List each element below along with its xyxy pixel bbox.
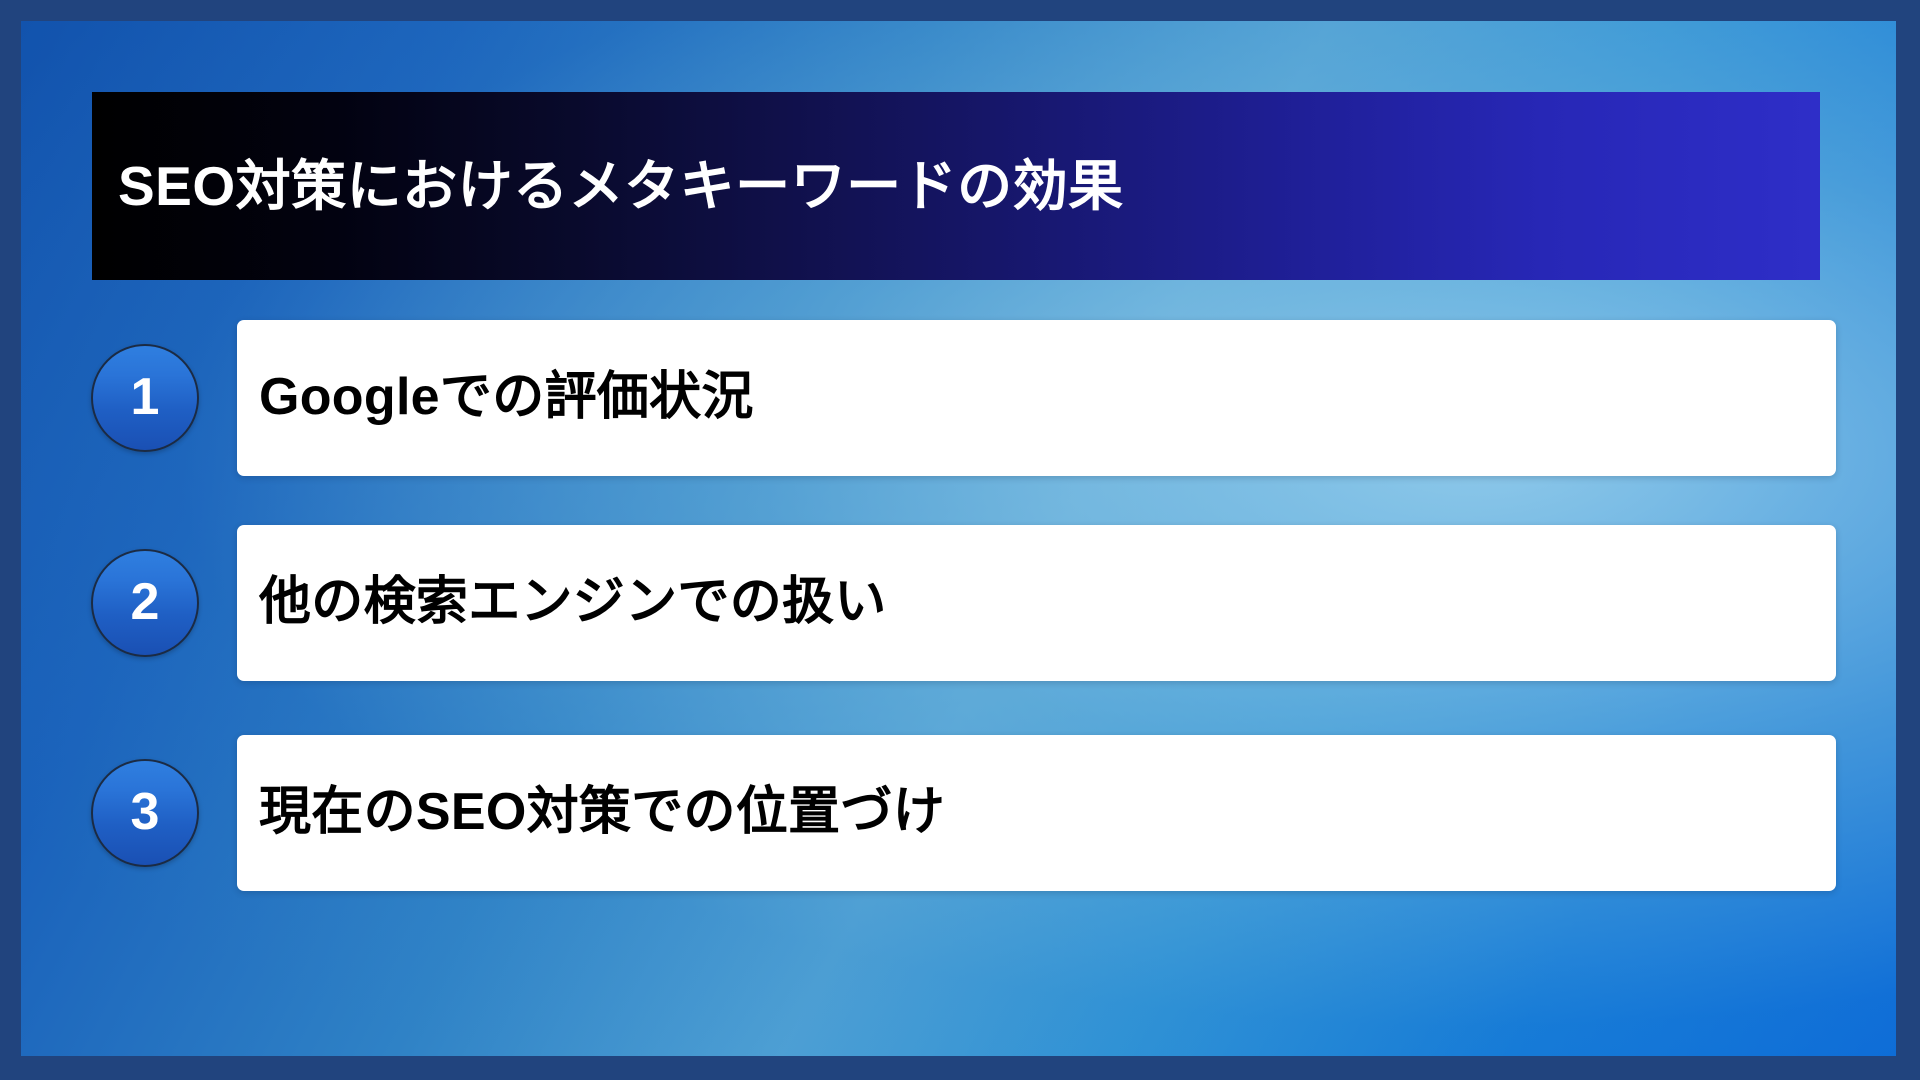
slide-canvas: SEO対策におけるメタキーワードの効果 1 Googleでの評価状況 2 他の検… bbox=[21, 21, 1896, 1056]
agenda-item-2[interactable]: 2 他の検索エンジンでの扱い bbox=[81, 525, 1836, 681]
number-badge-3: 3 bbox=[91, 759, 199, 867]
agenda-card-3-label: 現在のSEO対策での位置づけ bbox=[259, 783, 945, 843]
agenda-card-2[interactable]: 他の検索エンジンでの扱い bbox=[237, 525, 1836, 681]
agenda-card-2-label: 他の検索エンジンでの扱い bbox=[259, 573, 887, 633]
slide-frame: SEO対策におけるメタキーワードの効果 1 Googleでの評価状況 2 他の検… bbox=[0, 0, 1920, 1080]
agenda-item-1[interactable]: 1 Googleでの評価状況 bbox=[81, 320, 1836, 476]
agenda-card-3[interactable]: 現在のSEO対策での位置づけ bbox=[237, 735, 1836, 891]
number-badge-1-label: 1 bbox=[131, 371, 160, 423]
number-badge-2-label: 2 bbox=[131, 576, 160, 628]
agenda-card-1[interactable]: Googleでの評価状況 bbox=[237, 320, 1836, 476]
agenda-item-3[interactable]: 3 現在のSEO対策での位置づけ bbox=[81, 735, 1836, 891]
number-badge-3-label: 3 bbox=[131, 786, 160, 838]
agenda-list: 1 Googleでの評価状況 2 他の検索エンジンでの扱い 3 bbox=[21, 21, 1896, 1056]
number-badge-1: 1 bbox=[91, 344, 199, 452]
number-badge-2: 2 bbox=[91, 549, 199, 657]
agenda-card-1-label: Googleでの評価状況 bbox=[259, 368, 754, 428]
